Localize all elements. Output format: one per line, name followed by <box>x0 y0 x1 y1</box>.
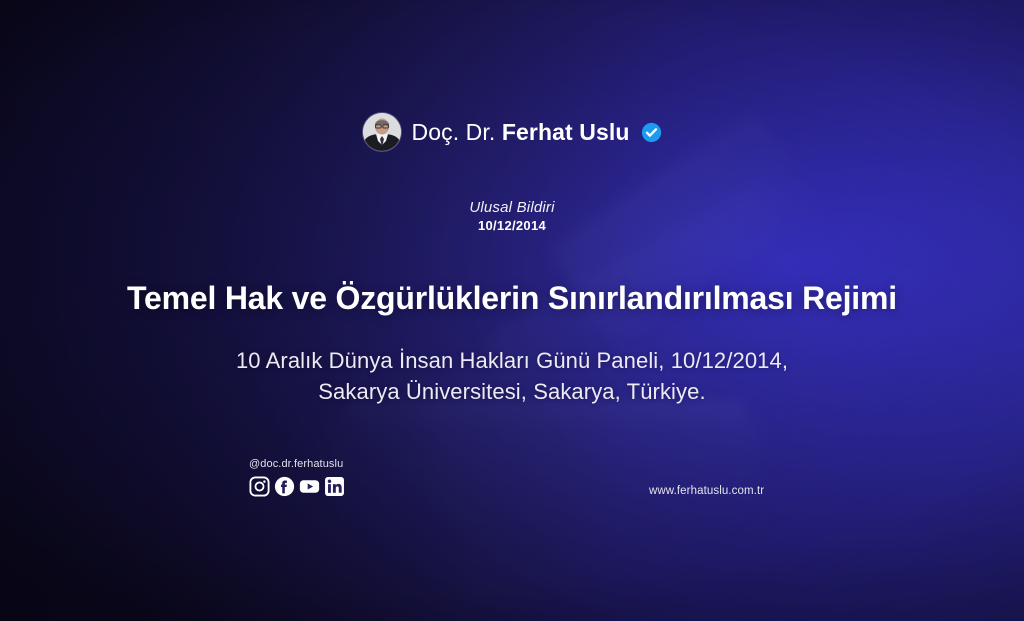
author-name: Doç. Dr. Ferhat Uslu <box>412 119 630 146</box>
event-description-line-2: Sakarya Üniversitesi, Sakarya, Türkiye. <box>120 376 904 407</box>
linkedin-icon[interactable] <box>324 476 345 497</box>
website-url[interactable]: www.ferhatuslu.com.tr <box>649 485 764 497</box>
event-description: 10 Aralık Dünya İnsan Hakları Günü Panel… <box>120 345 904 407</box>
author-byline: Doç. Dr. Ferhat Uslu <box>0 113 1024 151</box>
publication-meta: Ulusal Bildiri 10/12/2014 <box>0 199 1024 233</box>
verified-check-icon <box>641 122 662 143</box>
social-handle: @doc.dr.ferhatuslu <box>249 458 345 470</box>
presentation-slide: Doç. Dr. Ferhat Uslu Ulusal Bildiri 10/1… <box>0 0 1024 621</box>
page-title: Temel Hak ve Özgürlüklerin Sınırlandırıl… <box>60 279 964 317</box>
social-icon-row <box>249 476 345 497</box>
facebook-icon[interactable] <box>274 476 295 497</box>
avatar <box>363 113 401 151</box>
author-fullname: Ferhat Uslu <box>502 119 630 145</box>
author-title-prefix: Doç. Dr. <box>412 119 496 145</box>
youtube-icon[interactable] <box>299 476 320 497</box>
publication-type: Ulusal Bildiri <box>0 199 1024 216</box>
event-description-line-1: 10 Aralık Dünya İnsan Hakları Günü Panel… <box>120 345 904 376</box>
social-block: @doc.dr.ferhatuslu <box>249 458 345 497</box>
instagram-icon[interactable] <box>249 476 270 497</box>
slide-content: Doç. Dr. Ferhat Uslu Ulusal Bildiri 10/1… <box>0 0 1024 621</box>
publication-date: 10/12/2014 <box>0 218 1024 233</box>
